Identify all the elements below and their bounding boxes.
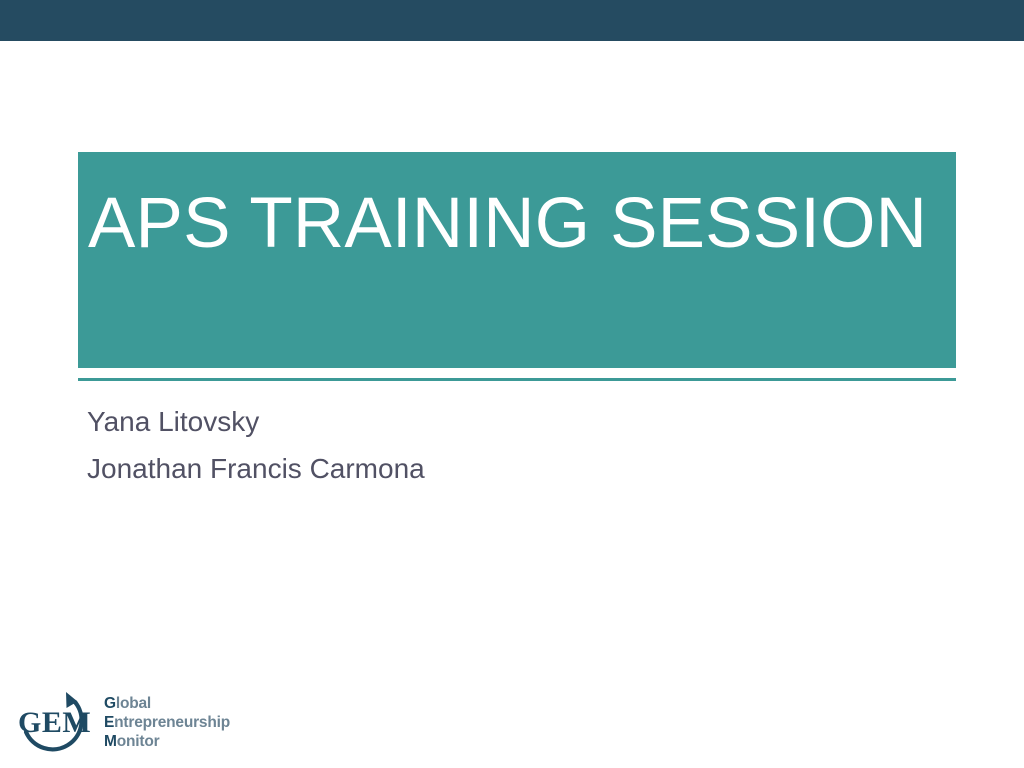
title-block: APS Training Session (78, 152, 956, 368)
gem-logo-cap-m: M (104, 733, 117, 750)
gem-monogram-icon: GEM (16, 688, 96, 762)
gem-logo-word-monitor: Monitor (104, 732, 289, 751)
gem-logo: GEM Global Entrepreneurship Monitor (16, 688, 284, 764)
title-divider (78, 378, 956, 381)
gem-logo-cap-g: G (104, 695, 116, 712)
author-list: Yana Litovsky Jonathan Francis Carmona (87, 398, 887, 492)
gem-logo-cap-e: E (104, 714, 114, 731)
gem-logo-rest-global: lobal (116, 695, 151, 712)
gem-logo-word-entrepreneurship: Entrepreneurship (104, 713, 289, 732)
top-decorative-bar (0, 0, 1024, 41)
gem-logo-word-global: Global (104, 694, 289, 713)
gem-logo-wordmark: Global Entrepreneurship Monitor (104, 694, 289, 751)
author-name-secondary: Jonathan Francis Carmona (87, 445, 887, 492)
page-title: APS Training Session (88, 180, 948, 268)
author-name-primary: Yana Litovsky (87, 398, 887, 445)
gem-logo-rest-monitor: onitor (117, 733, 160, 750)
svg-text:GEM: GEM (18, 706, 91, 739)
gem-logo-rest-entrepreneurship: ntrepreneurship (114, 714, 230, 731)
